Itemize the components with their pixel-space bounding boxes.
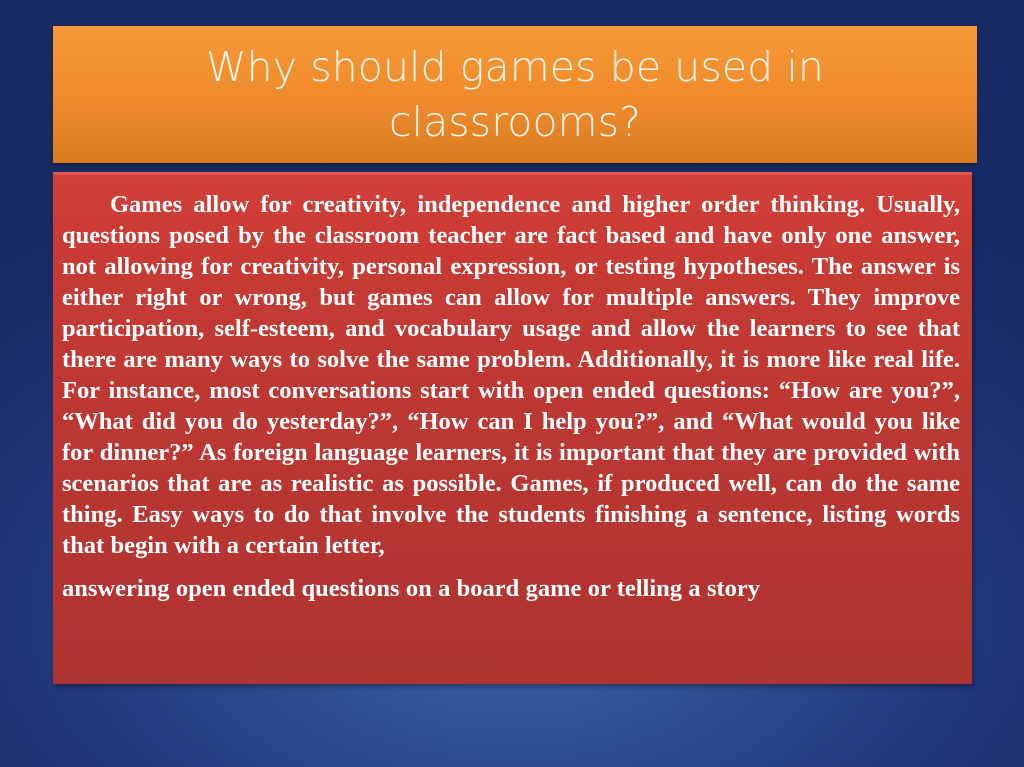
- content-placeholder[interactable]: Games allow for creativity, independence…: [53, 172, 972, 684]
- slide-canvas: Why should games be used in classrooms? …: [0, 0, 1024, 767]
- page-title: Why should games be used in classrooms?: [93, 40, 937, 148]
- title-placeholder[interactable]: Why should games be used in classrooms?: [53, 26, 977, 163]
- body-paragraph-final: answering open ended questions on a boar…: [62, 573, 960, 604]
- body-paragraph-main: Games allow for creativity, independence…: [62, 189, 960, 561]
